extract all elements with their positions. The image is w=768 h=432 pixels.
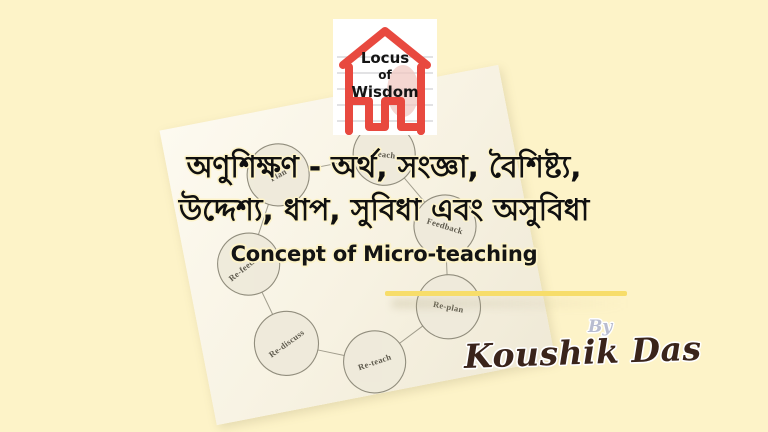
- title-line-1: অণুশিক্ষণ - অর্থ, সংজ্ঞা, বৈশিষ্ট্য,: [0, 147, 768, 190]
- house-icon: Locus of Wisdom: [333, 19, 437, 135]
- locus-of-wisdom-logo: Locus of Wisdom: [333, 19, 437, 135]
- logo-text-line3: Wisdom: [351, 83, 418, 101]
- cycle-node-re-discuss: Re-discuss: [249, 306, 324, 381]
- logo-text-line1: Locus: [361, 49, 409, 67]
- headline-block: অণুশিক্ষণ - অর্থ, সংজ্ঞা, বৈশিষ্ট্য, উদ্…: [0, 147, 768, 266]
- slide-canvas: PlanTeachRe-feedbackFeedbackRe-discussRe…: [0, 0, 768, 432]
- yellow-rule: [385, 291, 627, 296]
- author-signature: Koushik Das: [463, 329, 702, 376]
- subtitle: Concept of Micro-teaching: [0, 242, 768, 266]
- logo-text-line2: of: [378, 68, 392, 82]
- cycle-edge: [318, 345, 344, 360]
- rule-shadow: [392, 299, 628, 308]
- title-line-2: উদ্দেশ্য, ধাপ, সুবিধা এবং অসুবিধা: [0, 190, 768, 233]
- cycle-edge: [397, 326, 425, 343]
- cycle-node-re-teach: Re-teach: [338, 326, 411, 399]
- cycle-edge: [262, 291, 273, 316]
